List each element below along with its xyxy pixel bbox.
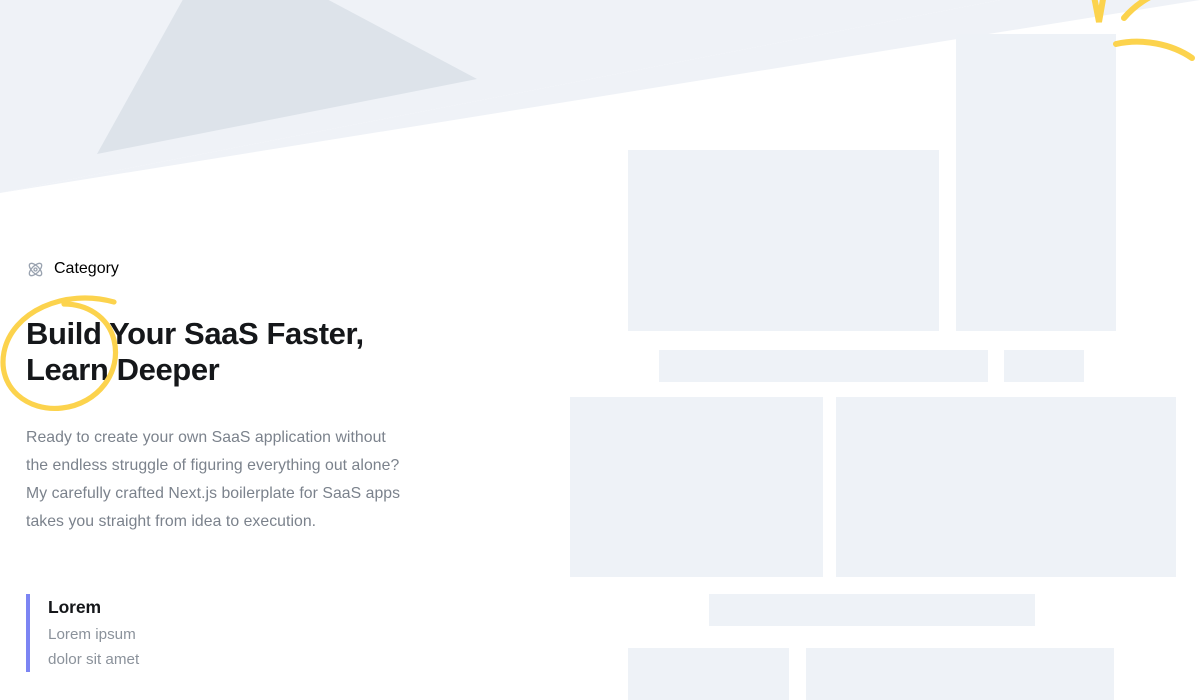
category-label: Category xyxy=(54,260,119,278)
placeholder-block-mid-left xyxy=(570,397,823,577)
quote-text: Lorem ipsum dolor sit amet xyxy=(48,623,346,672)
background-triangle-shape xyxy=(97,0,477,154)
hero-section: Category Build Your SaaS Faster, Learn D… xyxy=(26,258,526,536)
page-root: Category Build Your SaaS Faster, Learn D… xyxy=(0,0,1200,700)
atom-icon xyxy=(26,260,45,279)
category-badge[interactable]: Category xyxy=(26,258,526,280)
hero-description: Ready to create your own SaaS applicatio… xyxy=(26,424,526,536)
placeholder-bar-caption-center xyxy=(709,594,1035,626)
placeholder-block-wide-top xyxy=(628,150,939,331)
placeholder-bar-caption-long xyxy=(659,350,988,382)
placeholder-block-bottom-right xyxy=(806,648,1114,700)
placeholder-block-mid-right xyxy=(836,397,1176,577)
placeholder-block-bottom-left xyxy=(628,648,789,700)
placeholder-bar-caption-short xyxy=(1004,350,1084,382)
placeholder-block-tall-right xyxy=(956,34,1116,331)
page-title: Build Your SaaS Faster, Learn Deeper xyxy=(26,316,526,388)
quote-callout: Lorem Lorem ipsum dolor sit amet xyxy=(26,594,346,672)
quote-title: Lorem xyxy=(48,594,346,620)
